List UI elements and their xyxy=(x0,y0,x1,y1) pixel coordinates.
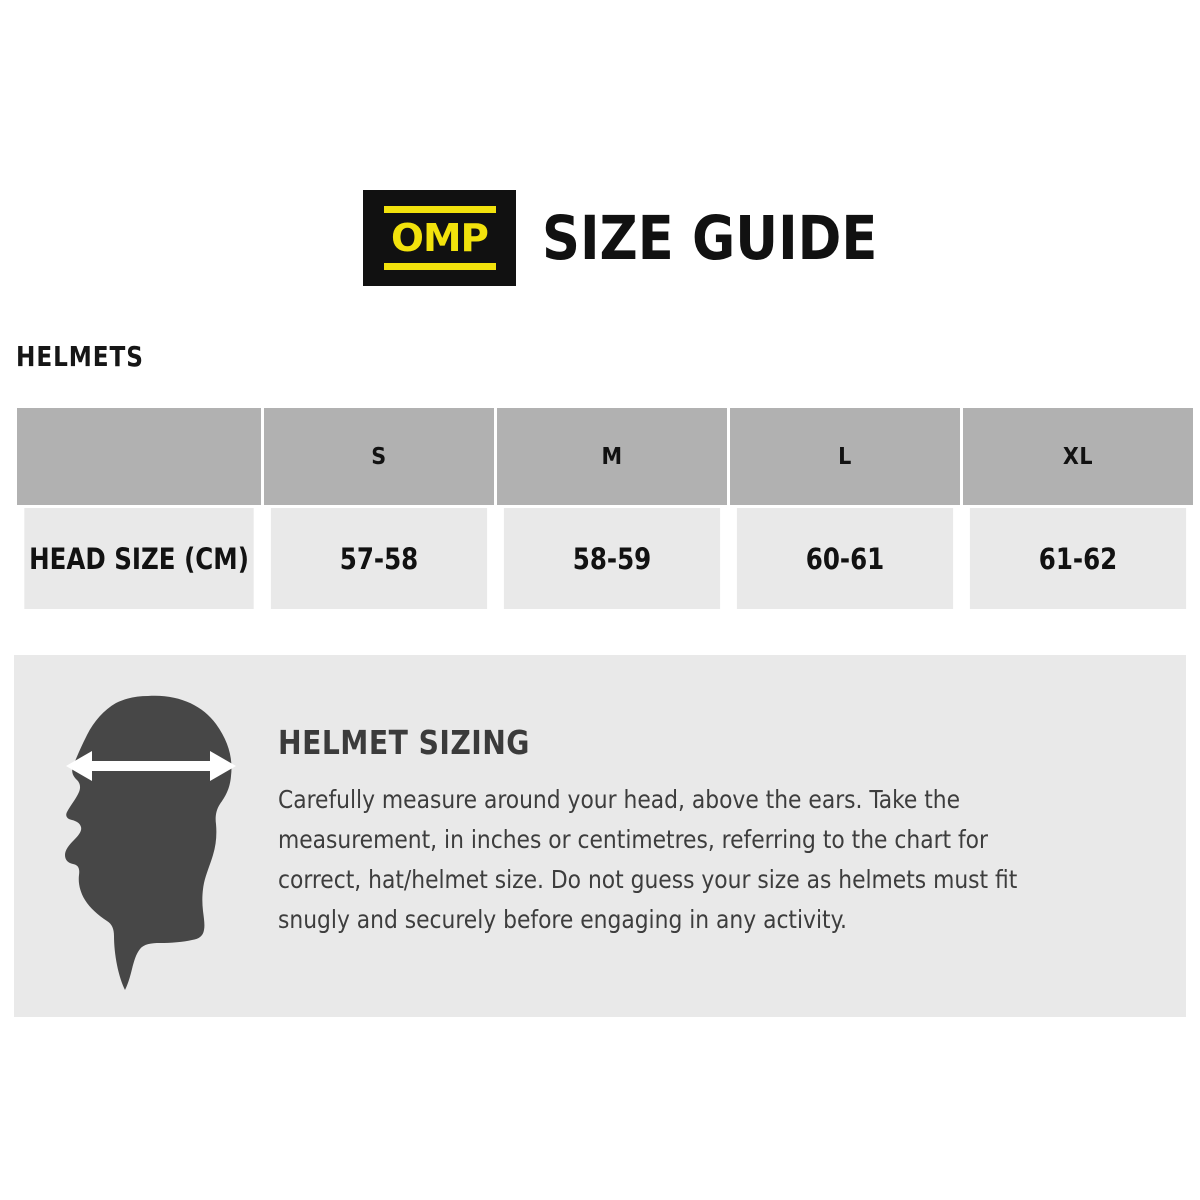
page-title: SIZE GUIDE xyxy=(542,208,877,269)
brand-header: OMP SIZE GUIDE xyxy=(363,190,891,286)
cell-head-size-m: 58-59 xyxy=(504,508,720,609)
header-cell-size-m: M xyxy=(497,408,727,505)
header-cell-size-s: S xyxy=(264,408,494,505)
omp-logo: OMP xyxy=(363,190,516,286)
table-header-row: S M L XL xyxy=(17,408,1193,505)
info-text-block: HELMET SIZING Carefully measure around y… xyxy=(278,655,1158,940)
header-cell-size-l: L xyxy=(730,408,960,505)
section-heading-helmets: HELMETS xyxy=(16,340,144,373)
cell-head-size-xl: 61-62 xyxy=(970,508,1186,609)
logo-bottom-bar xyxy=(384,263,496,270)
header-cell-size-xl: XL xyxy=(963,408,1193,505)
logo-top-bar xyxy=(384,206,496,213)
row-label-head-size: HEAD SIZE (CM) xyxy=(24,508,253,609)
size-chart-table: S M L XL HEAD SIZE (CM) 57-58 58-59 60-6… xyxy=(14,405,1196,612)
cell-head-size-l: 60-61 xyxy=(737,508,953,609)
helmet-sizing-info-panel: HELMET SIZING Carefully measure around y… xyxy=(14,655,1186,1017)
head-profile-measure-icon xyxy=(14,655,278,1017)
table-row: HEAD SIZE (CM) 57-58 58-59 60-61 61-62 xyxy=(17,508,1193,609)
info-panel-title: HELMET SIZING xyxy=(278,723,1029,762)
info-panel-body: Carefully measure around your head, abov… xyxy=(278,780,1044,940)
logo-wordmark: OMP xyxy=(391,219,488,257)
header-cell-blank xyxy=(17,408,261,505)
cell-head-size-s: 57-58 xyxy=(271,508,487,609)
